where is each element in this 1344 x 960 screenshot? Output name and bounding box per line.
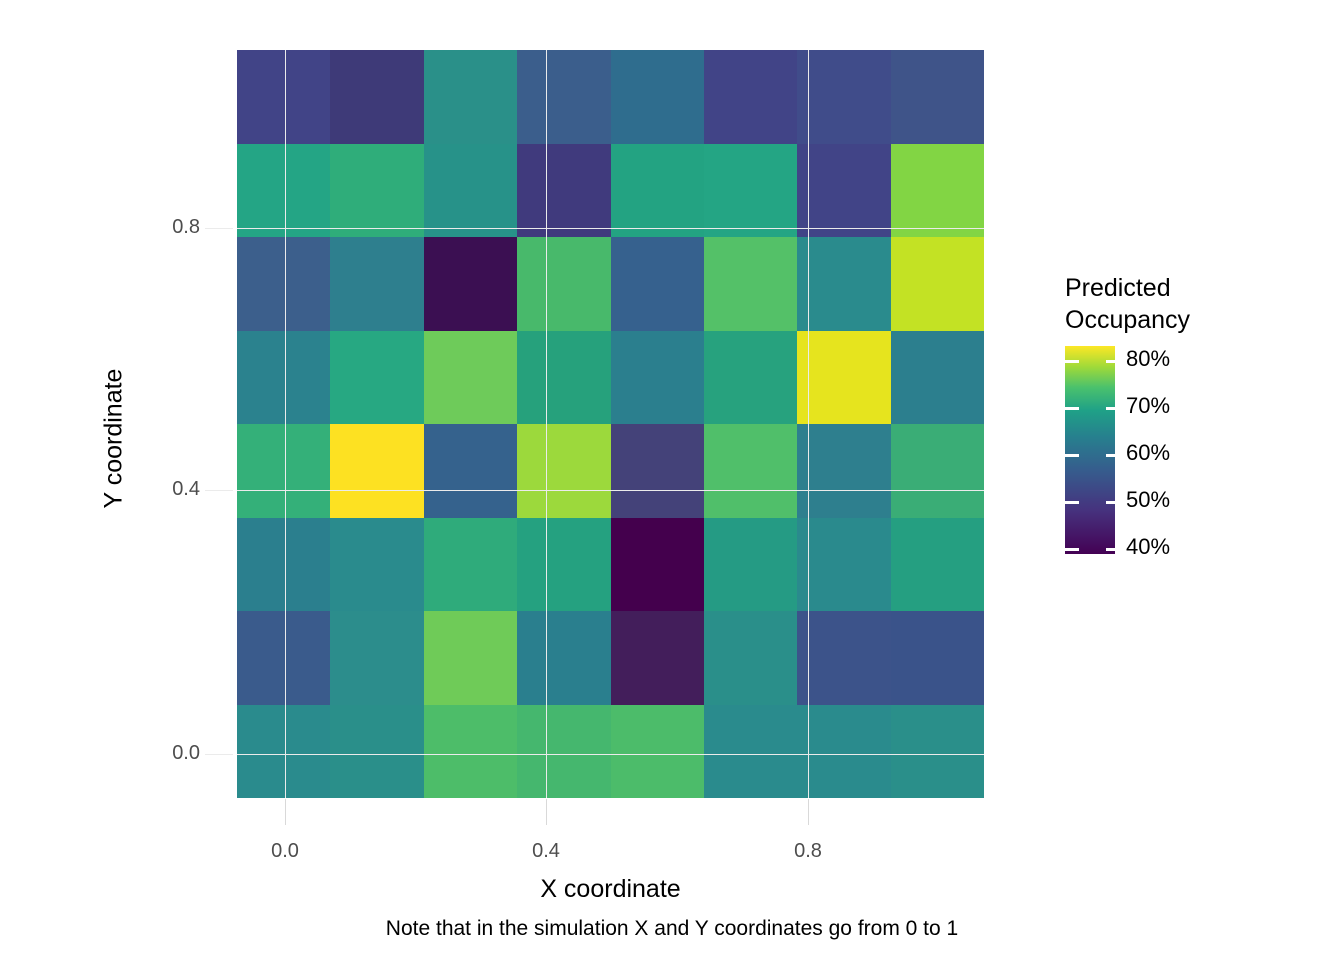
- heatmap-cell: [611, 144, 704, 238]
- x-axis-tick-label: 0.4: [506, 840, 586, 863]
- x-axis-title: X coordinate: [237, 875, 984, 904]
- heatmap-cell: [704, 424, 797, 518]
- legend-tick-label: 60%: [1126, 440, 1170, 466]
- legend-tick-left: [1065, 360, 1079, 363]
- gridline-horizontal: [237, 754, 984, 755]
- heatmap-cell: [891, 705, 984, 799]
- heatmap-cell: [611, 611, 704, 705]
- heatmap-cell: [330, 237, 423, 331]
- heatmap-cell: [330, 144, 423, 238]
- legend-title-line-2: Occupancy: [1065, 304, 1295, 336]
- heatmap-cell: [704, 237, 797, 331]
- legend-tick-left: [1065, 548, 1079, 551]
- heatmap-cell: [704, 611, 797, 705]
- heatmap-cell: [237, 331, 330, 425]
- legend-tick-right: [1106, 407, 1120, 410]
- heatmap-cell: [424, 611, 517, 705]
- heatmap-cell: [797, 705, 890, 799]
- legend-tick-label: 50%: [1126, 487, 1170, 513]
- heatmap-cell: [424, 237, 517, 331]
- heatmap-cell: [424, 50, 517, 144]
- heatmap-cell: [237, 611, 330, 705]
- heatmap-figure: 0.00.40.8 0.00.40.8 Y coordinate X coord…: [0, 0, 1344, 960]
- gridline-vertical: [808, 50, 809, 798]
- heatmap-cell: [704, 518, 797, 612]
- heatmap-cell: [611, 50, 704, 144]
- heatmap-cell: [891, 424, 984, 518]
- legend-tick-left: [1065, 407, 1079, 410]
- y-axis-title: Y coordinate: [100, 65, 129, 813]
- heatmap-cell: [517, 611, 610, 705]
- gridline-horizontal: [237, 490, 984, 491]
- y-axis-tick: [205, 754, 233, 755]
- legend-tick-right: [1106, 360, 1120, 363]
- heatmap-cell: [797, 144, 890, 238]
- heatmap-cell: [891, 331, 984, 425]
- x-axis-tick: [546, 799, 547, 825]
- legend-tick-left: [1065, 501, 1079, 504]
- heatmap-cell: [704, 331, 797, 425]
- legend-title: Predicted Occupancy: [1065, 272, 1295, 336]
- heatmap-cell: [611, 331, 704, 425]
- heatmap-cell: [611, 518, 704, 612]
- heatmap-cell: [517, 705, 610, 799]
- y-axis-tick: [205, 490, 233, 491]
- gridline-vertical: [546, 50, 547, 798]
- gridline-vertical: [285, 50, 286, 798]
- y-axis-tick-label: 0.4: [140, 478, 200, 501]
- heatmap-cell: [797, 518, 890, 612]
- heatmap-cell: [330, 331, 423, 425]
- heatmap-cell: [237, 50, 330, 144]
- legend-tick-right: [1106, 454, 1120, 457]
- x-axis-tick: [285, 799, 286, 825]
- heatmap-cell: [611, 424, 704, 518]
- x-axis-tick: [808, 799, 809, 825]
- legend-title-line-1: Predicted: [1065, 272, 1295, 304]
- heatmap-cell: [237, 144, 330, 238]
- y-axis-tick-label: 0.8: [140, 216, 200, 239]
- heatmap-cell: [237, 237, 330, 331]
- legend-tick-right: [1106, 501, 1120, 504]
- heatmap-cell: [797, 331, 890, 425]
- heatmap-cell: [517, 144, 610, 238]
- heatmap-cell: [517, 331, 610, 425]
- heatmap-cell: [891, 144, 984, 238]
- y-axis-tick-label: 0.0: [140, 742, 200, 765]
- heatmap-cell: [424, 424, 517, 518]
- heatmap-cell: [891, 50, 984, 144]
- gridline-horizontal: [237, 228, 984, 229]
- legend-tick-label: 40%: [1126, 534, 1170, 560]
- heatmap-cell: [237, 424, 330, 518]
- x-axis-tick-label: 0.0: [245, 840, 325, 863]
- heatmap-cell: [517, 237, 610, 331]
- heatmap-cell: [797, 611, 890, 705]
- heatmap-cell: [704, 144, 797, 238]
- heatmap-cell: [424, 518, 517, 612]
- heatmap-cell: [704, 705, 797, 799]
- heatmap-cell: [517, 424, 610, 518]
- legend-colorbar: [1065, 346, 1115, 554]
- legend-tick-right: [1106, 548, 1120, 551]
- heatmap-cell: [237, 518, 330, 612]
- heatmap-cell: [611, 237, 704, 331]
- figure-caption: Note that in the simulation X and Y coor…: [0, 917, 1344, 941]
- heatmap-cell: [704, 50, 797, 144]
- legend-tick-left: [1065, 454, 1079, 457]
- heatmap-cell: [797, 237, 890, 331]
- heatmap-cell: [891, 518, 984, 612]
- heatmap-cell: [797, 424, 890, 518]
- heatmap-cell: [330, 50, 423, 144]
- legend-tick-label: 70%: [1126, 393, 1170, 419]
- y-axis-tick: [205, 228, 233, 229]
- heatmap-cell: [330, 611, 423, 705]
- heatmap-cell: [330, 424, 423, 518]
- heatmap-cell: [611, 705, 704, 799]
- heatmap-cell: [891, 611, 984, 705]
- heatmap-cell: [330, 705, 423, 799]
- heatmap-cell: [237, 705, 330, 799]
- x-axis-tick-label: 0.8: [768, 840, 848, 863]
- heatmap-cell: [424, 331, 517, 425]
- heatmap-cell: [517, 50, 610, 144]
- legend-tick-label: 80%: [1126, 346, 1170, 372]
- heatmap-cell: [424, 705, 517, 799]
- plot-panel: [237, 50, 984, 798]
- heatmap-cell: [797, 50, 890, 144]
- heatmap-cell: [330, 518, 423, 612]
- heatmap-cell: [891, 237, 984, 331]
- heatmap-cell: [517, 518, 610, 612]
- heatmap-cell: [424, 144, 517, 238]
- heatmap-grid: [237, 50, 984, 798]
